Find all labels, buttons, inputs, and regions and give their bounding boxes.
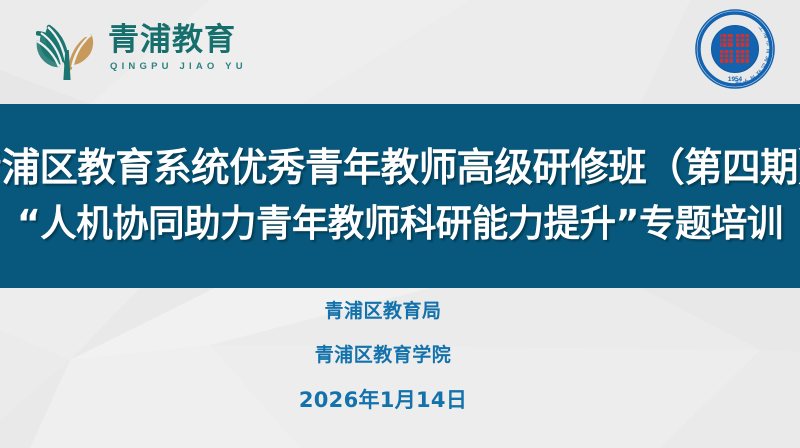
- qingpu-tree-logo-icon: [36, 8, 98, 82]
- title-slide: 青浦教育 QINGPU JIAO YU 1954: [0, 0, 800, 448]
- brand-name-en: QINGPU JIAO YU: [108, 61, 247, 72]
- title-banner: 青浦区教育系统优秀青年教师高级研修班（第四期） “人机协同助力青年教师科研能力提…: [0, 104, 800, 288]
- slide-footer: 青浦区教育局 青浦区教育学院 2026年1月14日: [0, 296, 800, 414]
- qingpu-education-brand: 青浦教育 QINGPU JIAO YU: [36, 8, 247, 82]
- organizer-institute: 青浦区教育学院: [315, 340, 452, 367]
- brand-wordmark: 青浦教育 QINGPU JIAO YU: [108, 18, 247, 72]
- organizer-bureau: 青浦区教育局: [324, 296, 441, 323]
- banner-title-line-2: “人机协同助力青年教师科研能力提升”专题培训: [17, 202, 783, 246]
- event-date: 2026年1月14日: [299, 384, 467, 414]
- slide-header: 青浦教育 QINGPU JIAO YU 1954: [0, 0, 800, 104]
- banner-title-line-1: 青浦区教育系统优秀青年教师高级研修班（第四期）: [0, 146, 800, 192]
- qingpu-institute-seal-icon: 1954 上海市青浦区教育学院 上海市青浦区教育学院: [694, 8, 776, 90]
- brand-name-cn: 青浦教育: [108, 24, 247, 57]
